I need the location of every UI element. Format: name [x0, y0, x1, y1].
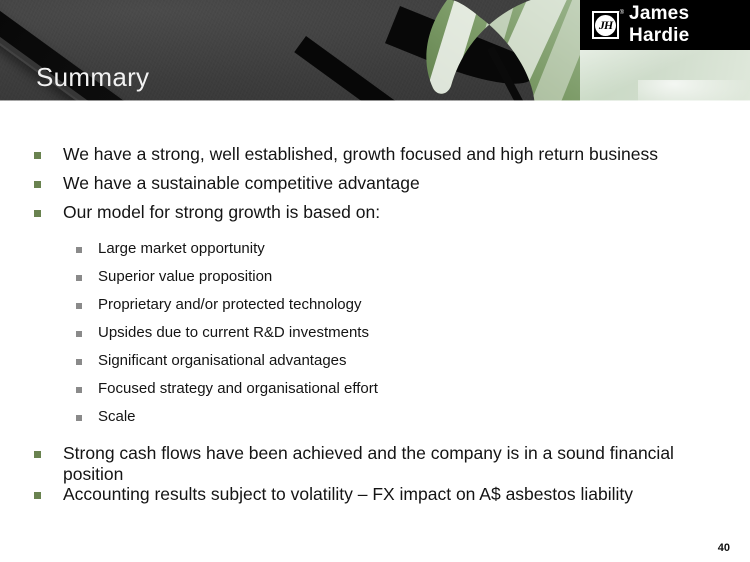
bullet-item-level1: Strong cash flows have been achieved and… [34, 443, 724, 485]
bullet-item-level1: Accounting results subject to volatility… [34, 484, 724, 505]
bullet-text: Upsides due to current R&D investments [98, 324, 369, 342]
bullet-item-level2: Significant organisational advantages [76, 352, 716, 370]
bullet-item-level2: Superior value proposition [76, 268, 716, 286]
bullet-marker-icon [76, 359, 82, 365]
bullet-item-level1: We have a sustainable competitive advant… [34, 173, 724, 194]
bullet-marker-icon [76, 247, 82, 253]
bullet-text: Our model for strong growth is based on: [63, 202, 380, 223]
header-green-panel [580, 50, 750, 101]
bullet-marker-icon [76, 303, 82, 309]
bullet-marker-icon [34, 152, 41, 159]
jh-monogram-letters: JH [595, 15, 616, 36]
bullet-item-level2: Scale [76, 408, 716, 426]
page-number: 40 [718, 542, 730, 554]
bullet-marker-icon [76, 415, 82, 421]
bullet-text: We have a sustainable competitive advant… [63, 173, 420, 194]
bullet-text: Focused strategy and organisational effo… [98, 380, 378, 398]
bullet-item-level2: Upsides due to current R&D investments [76, 324, 716, 342]
bullet-text: Accounting results subject to volatility… [63, 484, 633, 505]
bullet-text: Large market opportunity [98, 240, 265, 258]
bullet-text: Superior value proposition [98, 268, 272, 286]
slide-header: JH ® James Hardie Summary [0, 0, 750, 101]
bullet-marker-icon [76, 331, 82, 337]
bullet-text: Scale [98, 408, 136, 426]
page-title: Summary [36, 64, 149, 90]
bullet-marker-icon [76, 275, 82, 281]
bullet-text: We have a strong, well established, grow… [63, 144, 658, 165]
registered-trademark-icon: ® [620, 10, 624, 16]
james-hardie-logo: JH ® James Hardie [580, 0, 750, 50]
green-swoosh-shape [385, 0, 595, 101]
bullet-item-level1: Our model for strong growth is based on: [34, 202, 724, 223]
bullet-marker-icon [34, 181, 41, 188]
bullet-marker-icon [76, 387, 82, 393]
bullet-item-level2: Focused strategy and organisational effo… [76, 380, 716, 398]
bullet-marker-icon [34, 492, 41, 499]
bullet-marker-icon [34, 451, 41, 458]
bullet-item-level2: Proprietary and/or protected technology [76, 296, 716, 314]
slide-body: We have a strong, well established, grow… [0, 101, 750, 562]
bullet-text: Strong cash flows have been achieved and… [63, 443, 724, 485]
logo-wordmark: James Hardie [629, 3, 750, 47]
bullet-marker-icon [34, 210, 41, 217]
jh-monogram-icon: JH ® [592, 11, 619, 39]
green-swoosh-graphic [385, 0, 595, 101]
bullet-text: Significant organisational advantages [98, 352, 347, 370]
bullet-item-level1: We have a strong, well established, grow… [34, 144, 724, 165]
bullet-text: Proprietary and/or protected technology [98, 296, 362, 314]
bullet-item-level2: Large market opportunity [76, 240, 716, 258]
